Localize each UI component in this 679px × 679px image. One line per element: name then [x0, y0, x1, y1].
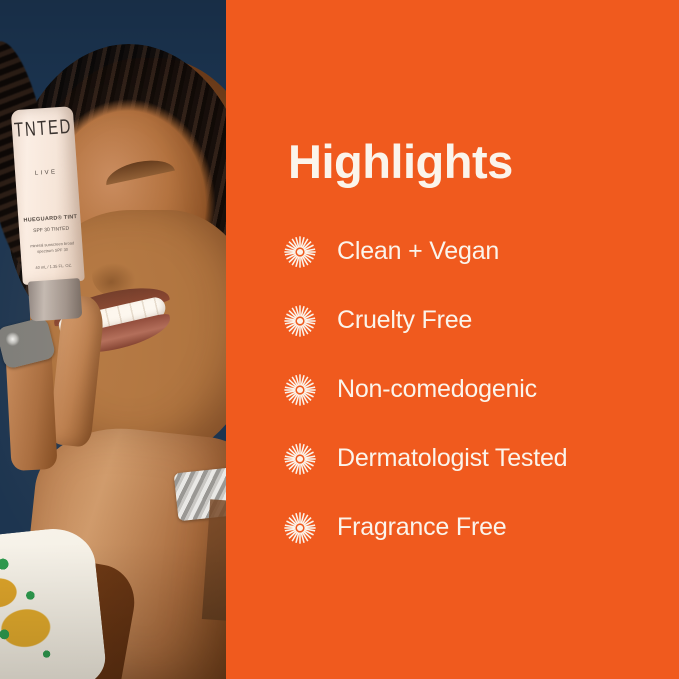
list-item: Fragrance Free: [283, 502, 673, 553]
list-item-label: Cruelty Free: [337, 308, 472, 333]
sunburst-icon: [283, 442, 317, 476]
list-item-label: Fragrance Free: [337, 515, 507, 540]
sunburst-icon: [283, 511, 317, 545]
list-item: Non-comedogenic: [283, 364, 673, 415]
sunburst-icon: [283, 304, 317, 338]
sunburst-icon: [283, 235, 317, 269]
list-item: Cruelty Free: [283, 295, 673, 346]
highlights-panel: Highlights: [226, 0, 679, 679]
list-item: Dermatologist Tested: [283, 433, 673, 484]
sunburst-icon: [283, 373, 317, 407]
tube-cap: [28, 278, 83, 322]
list-item: Clean + Vegan: [283, 226, 673, 277]
lifestyle-photo: TNTED LIVE HUEGUARD® TINT SPF 30 TINTED …: [0, 0, 226, 679]
page-title: Highlights: [288, 138, 513, 185]
list-item-label: Clean + Vegan: [337, 239, 499, 264]
highlights-list: Clean + Vegan: [283, 226, 673, 571]
list-item-label: Dermatologist Tested: [337, 446, 567, 471]
product-highlights-banner: TNTED LIVE HUEGUARD® TINT SPF 30 TINTED …: [0, 0, 679, 679]
tube-brand-text: TNTED: [11, 115, 74, 142]
list-item-label: Non-comedogenic: [337, 377, 537, 402]
